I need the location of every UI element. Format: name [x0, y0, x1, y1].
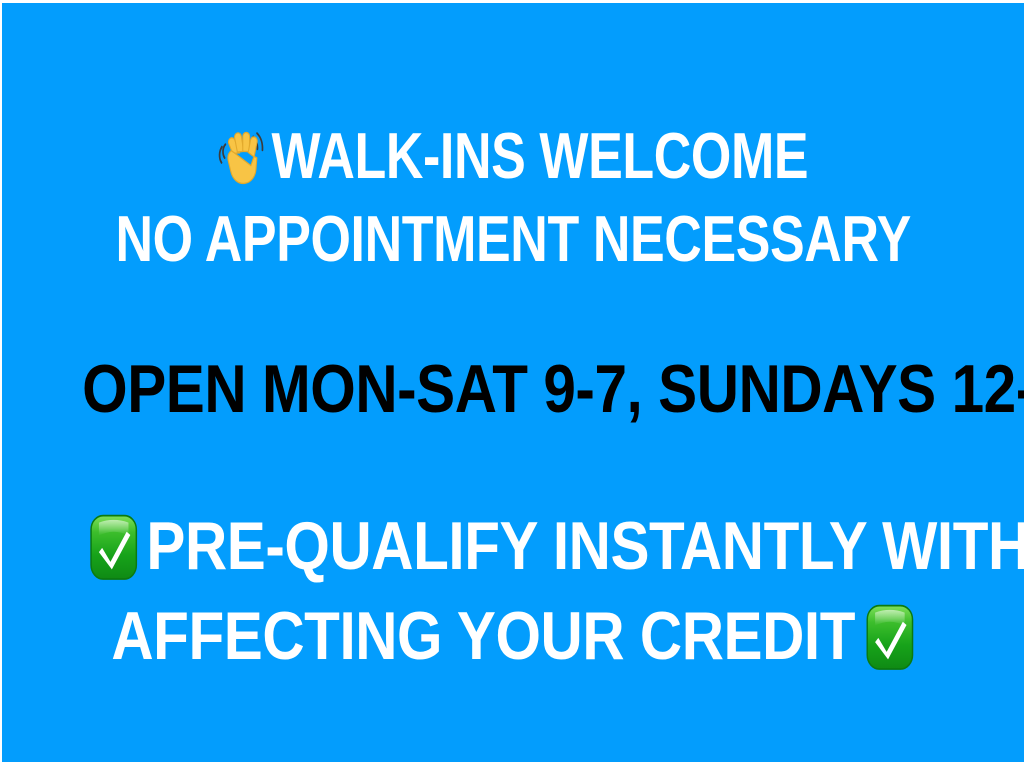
promotional-sign-board: WALK-INS WELCOME NO APPOINTMENT NECESSAR… [2, 3, 1024, 762]
sign-line-4-text: PRE-QUALIFY INSTANTLY WITHOUT [146, 508, 1024, 584]
waving-hand-icon [217, 127, 266, 189]
sign-line-pre-qualify: PRE-QUALIFY INSTANTLY WITHOUT [2, 512, 1024, 581]
sign-line-affecting-your-credit: AFFECTING YOUR CREDIT [2, 602, 1024, 671]
sign-line-1-text: WALK-INS WELCOME [272, 119, 809, 192]
white-check-mark-button-icon [89, 514, 139, 581]
sign-line-2-text: NO APPOINTMENT NECESSARY [115, 202, 911, 275]
sign-line-no-appointment-necessary: NO APPOINTMENT NECESSARY [2, 206, 1024, 271]
sign-line-walk-ins-welcome: WALK-INS WELCOME [2, 123, 1024, 188]
white-check-mark-button-icon [864, 604, 914, 671]
sign-line-open-hours: OPEN MON-SAT 9-7, SUNDAYS 12-5 [2, 355, 1024, 423]
sign-canvas: WALK-INS WELCOME NO APPOINTMENT NECESSAR… [0, 0, 1024, 768]
sign-line-3-text: OPEN MON-SAT 9-7, SUNDAYS 12-5 [82, 351, 1024, 427]
sign-line-5-text: AFFECTING YOUR CREDIT [111, 598, 855, 674]
sign-text-stack: WALK-INS WELCOME NO APPOINTMENT NECESSAR… [2, 3, 1024, 762]
